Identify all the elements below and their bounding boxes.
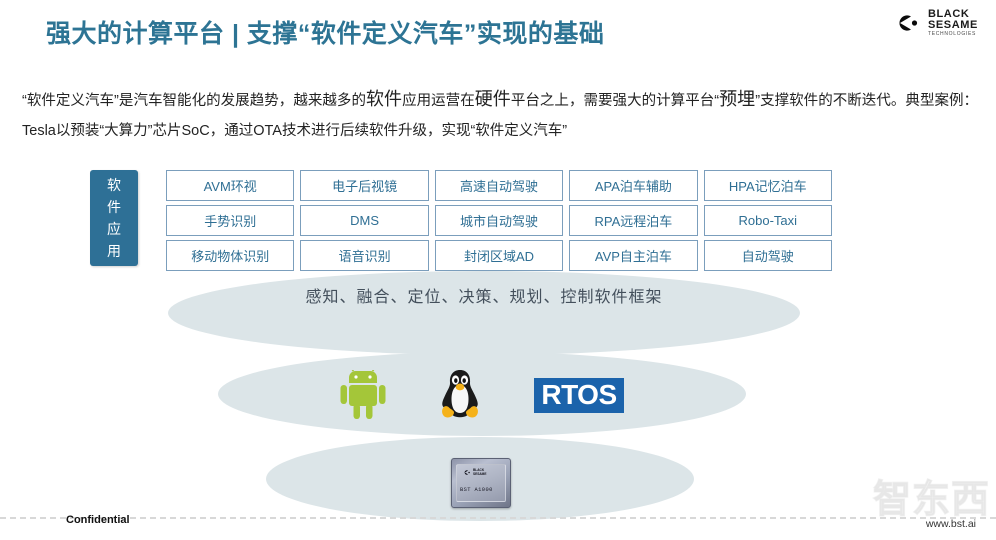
chip-brand-logo: BLACK SESAME (461, 469, 486, 476)
brand-logo: BLACK SESAME TECHNOLOGIES (887, 9, 978, 37)
intro-emphasis-software: 软件 (366, 89, 402, 109)
app-cell[interactable]: APA泊车辅助 (569, 170, 697, 201)
intro-paragraph: “软件定义汽车”是汽车智能化的发展趋势，越来越多的软件应用运营在硬件平台之上，需… (22, 84, 978, 146)
app-cell[interactable]: 电子后视镜 (300, 170, 428, 201)
app-cell[interactable]: 城市自动驾驶 (435, 205, 563, 236)
intro-emphasis-hardware: 硬件 (475, 89, 511, 109)
intro-seg-3: 平台之上，需要强大的计算平台“ (511, 93, 719, 109)
black-sesame-logo-icon (887, 12, 921, 34)
linux-tux-logo-icon (438, 369, 482, 421)
slide-canvas: 强大的计算平台 | 支撑“软件定义汽车”实现的基础 BLACK SESAME T… (0, 0, 996, 540)
app-cell[interactable]: HPA记忆泊车 (704, 170, 832, 201)
brand-line-3: TECHNOLOGIES (928, 32, 978, 37)
rtos-label: RTOS (534, 378, 623, 413)
app-cell[interactable]: 移动物体识别 (166, 240, 294, 271)
brand-wordmark: BLACK SESAME TECHNOLOGIES (928, 9, 978, 37)
app-tab-char-1: 件 (90, 196, 138, 218)
app-cell[interactable]: 语音识别 (300, 240, 428, 271)
intro-seg-2: 应用运营在 (402, 93, 475, 109)
brand-line-2: SESAME (928, 20, 978, 31)
confidential-label: Confidential (66, 514, 130, 526)
app-tab-char-0: 软 (90, 174, 138, 196)
intro-emphasis-preembed: 预埋 (719, 89, 755, 109)
application-grid: AVM环视 电子后视镜 高速自动驾驶 APA泊车辅助 HPA记忆泊车 手势识别 … (166, 170, 832, 271)
app-cell[interactable]: AVM环视 (166, 170, 294, 201)
chip-part-number: BST A1000 (460, 487, 493, 493)
app-tab-char-2: 应 (90, 218, 138, 240)
os-layer-logos: RTOS (218, 360, 746, 430)
rtos-logo-icon: RTOS (534, 378, 623, 413)
app-tab-char-3: 用 (90, 240, 138, 262)
app-cell[interactable]: 自动驾驶 (704, 240, 832, 271)
site-watermark: 智东西 (873, 468, 990, 523)
website-url: www.bst.ai (926, 518, 976, 530)
app-cell[interactable]: RPA远程泊车 (569, 205, 697, 236)
app-cell[interactable]: 手势识别 (166, 205, 294, 236)
intro-seg-1: “软件定义汽车”是汽车智能化的发展趋势，越来越多的 (22, 93, 366, 109)
framework-layer-label: 感知、融合、定位、决策、规划、控制软件框架 (168, 283, 800, 307)
android-logo-icon (340, 370, 386, 420)
software-application-tab: 软 件 应 用 (90, 170, 138, 266)
chip-die-surface: BLACK SESAME BST A1000 (456, 464, 506, 502)
footer-divider (0, 517, 996, 519)
chip-logo-icon (461, 469, 471, 476)
chip-brand-line-2: SESAME (473, 472, 486, 476)
chip-brand-text: BLACK SESAME (473, 469, 486, 476)
app-cell[interactable]: Robo-Taxi (704, 205, 832, 236)
app-cell[interactable]: DMS (300, 205, 428, 236)
bst-a1000-chip-image: BLACK SESAME BST A1000 (451, 458, 511, 508)
app-cell[interactable]: 高速自动驾驶 (435, 170, 563, 201)
app-cell[interactable]: 封闭区域AD (435, 240, 563, 271)
page-title: 强大的计算平台 | 支撑“软件定义汽车”实现的基础 (46, 14, 604, 50)
app-cell[interactable]: AVP自主泊车 (569, 240, 697, 271)
